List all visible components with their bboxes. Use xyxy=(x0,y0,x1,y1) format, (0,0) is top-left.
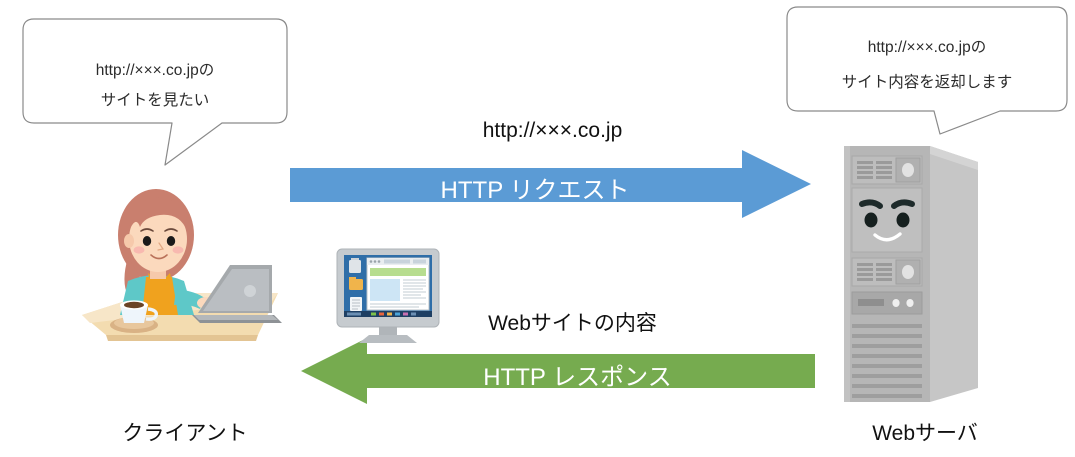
response-monitor-illustration xyxy=(333,247,443,347)
client-bubble-line2: サイトを見たい xyxy=(22,86,288,116)
request-url-caption: http://×××.co.jp xyxy=(290,119,815,143)
server-bubble-line2: サイト内容を返却します xyxy=(786,68,1068,98)
client-bubble-line1: http://×××.co.jpの xyxy=(22,56,288,86)
client-label: クライアント xyxy=(60,417,310,447)
tower-server-illustration xyxy=(826,140,996,412)
server-bubble-line1: http://×××.co.jpの xyxy=(786,33,1068,63)
server-illustration xyxy=(826,140,996,412)
client-speech-bubble: http://×××.co.jpの サイトを見たい xyxy=(22,18,288,170)
server-speech-bubble: http://×××.co.jpの サイト内容を返却します xyxy=(786,6,1068,146)
diagram-canvas: http://×××.co.jpの サイトを見たい http://×××.co.… xyxy=(0,0,1075,457)
request-arrow-label: HTTP リクエスト xyxy=(290,170,780,205)
client-illustration xyxy=(72,165,292,355)
server-label: Webサーバ xyxy=(800,417,1050,447)
desktop-monitor-illustration xyxy=(333,247,443,347)
woman-at-laptop-illustration xyxy=(72,165,292,355)
response-arrow-label: HTTP レスポンス xyxy=(340,357,815,392)
